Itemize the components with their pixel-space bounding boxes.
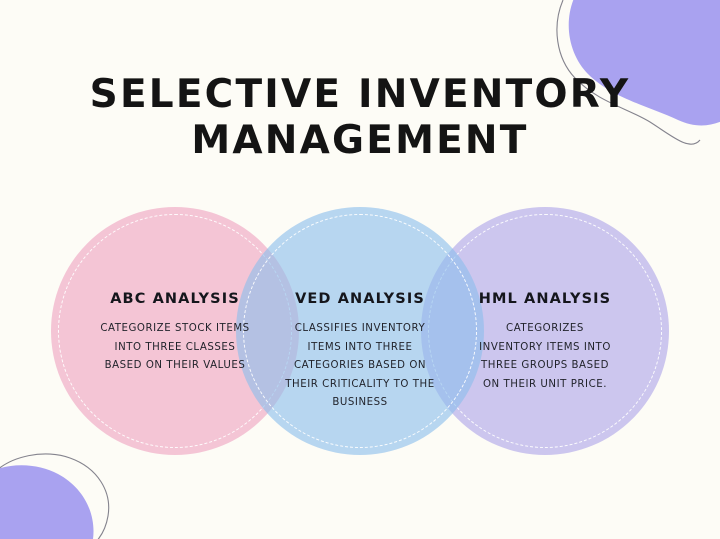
title-line-2: MANAGEMENT xyxy=(0,118,720,164)
venn-card-abc-body: CATEGORIZE STOCK ITEMS INTO THREE CLASSE… xyxy=(99,320,251,376)
venn-card-hml-body: CATEGORIZES INVENTORY ITEMS INTO THREE G… xyxy=(477,320,613,394)
venn-card-ved-body: CLASSIFIES INVENTORY ITEMS INTO THREE CA… xyxy=(285,320,435,413)
venn-card-hml-title: HML ANALYSIS xyxy=(479,291,611,307)
venn-card-hml: HML ANALYSIS CATEGORIZES INVENTORY ITEMS… xyxy=(421,207,669,455)
slide-title: SELECTIVE INVENTORY MANAGEMENT xyxy=(0,72,720,164)
slide-canvas: SELECTIVE INVENTORY MANAGEMENT ABC ANALY… xyxy=(0,0,720,539)
title-line-1: SELECTIVE INVENTORY xyxy=(0,72,720,118)
venn-card-abc-title: ABC ANALYSIS xyxy=(110,291,240,307)
venn-card-ved-title: VED ANALYSIS xyxy=(295,291,425,307)
